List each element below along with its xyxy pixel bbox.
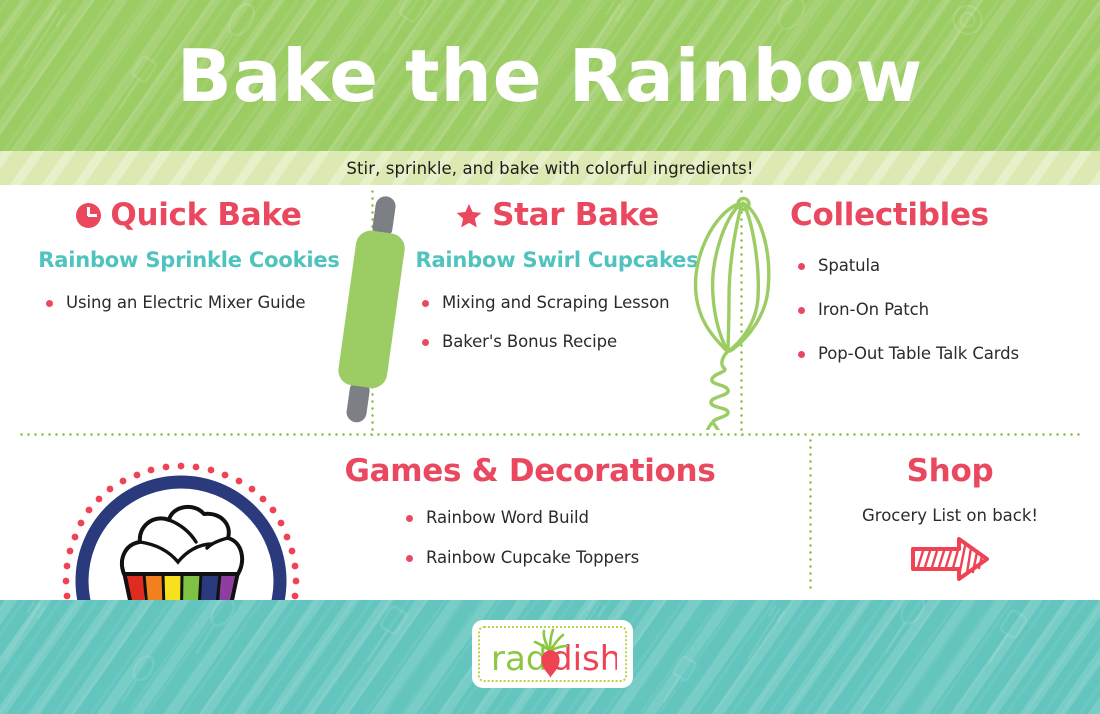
section-quick-bake: Quick Bake Rainbow Sprinkle Cookies Usin…	[24, 196, 354, 330]
subtitle-band: Stir, sprinkle, and bake with colorful i…	[0, 151, 1100, 185]
games-list: Rainbow Word Build Rainbow Cupcake Toppe…	[400, 506, 730, 570]
header-band: Bake the Rainbow	[0, 0, 1100, 151]
brand-text-dish: dish	[551, 639, 617, 679]
quick-bake-recipe: Rainbow Sprinkle Cookies	[24, 246, 354, 275]
collectibles-heading-label: Collectibles	[790, 196, 989, 234]
quick-bake-heading-label: Quick Bake	[110, 196, 301, 234]
section-star-bake: Star Bake Rainbow Swirl Cupcakes Mixing …	[392, 196, 722, 369]
poster-page: Bake the Rainbow Stir, sprinkle, and bak…	[0, 0, 1100, 714]
brand-logo: rad dish	[474, 622, 631, 686]
list-item: Rainbow Word Build	[400, 506, 730, 530]
star-bake-list: Mixing and Scraping Lesson Baker's Bonus…	[416, 291, 722, 354]
section-shop: Shop Grocery List on back!	[820, 452, 1080, 588]
star-bake-heading-label: Star Bake	[492, 196, 659, 234]
quick-bake-heading: Quick Bake	[24, 196, 354, 234]
collectibles-list: Spatula Iron-On Patch Pop-Out Table Talk…	[792, 254, 1090, 366]
page-title: Bake the Rainbow	[0, 30, 1100, 122]
divider-vertical-shop	[809, 437, 812, 589]
section-games-decorations: Games & Decorations Rainbow Word Build R…	[330, 452, 730, 586]
games-heading: Games & Decorations	[330, 452, 730, 490]
list-item: Using an Electric Mixer Guide	[40, 291, 354, 315]
divider-horizontal	[18, 433, 1082, 436]
shop-heading-label: Shop	[907, 452, 994, 490]
radish-wordmark-icon: rad dish	[489, 628, 617, 680]
list-item: Iron-On Patch	[792, 298, 1090, 322]
section-collectibles: Collectibles Spatula Iron-On Patch Pop-O…	[790, 196, 1090, 386]
shop-note: Grocery List on back!	[820, 506, 1080, 525]
star-icon	[455, 202, 483, 230]
games-heading-label: Games & Decorations	[345, 452, 716, 490]
list-item: Rainbow Cupcake Toppers	[400, 546, 730, 570]
whisk-icon	[680, 190, 790, 430]
subtitle-text: Stir, sprinkle, and bake with colorful i…	[346, 159, 753, 178]
collectibles-heading: Collectibles	[790, 196, 1090, 234]
list-item: Spatula	[792, 254, 1090, 278]
list-item: Pop-Out Table Talk Cards	[792, 342, 1090, 366]
quick-bake-list: Using an Electric Mixer Guide	[40, 291, 354, 315]
clock-icon	[76, 203, 101, 228]
arrow-right-icon	[907, 535, 993, 583]
list-item: Baker's Bonus Recipe	[416, 330, 722, 354]
star-bake-heading: Star Bake	[392, 196, 722, 234]
list-item: Mixing and Scraping Lesson	[416, 291, 722, 315]
shop-heading: Shop	[820, 452, 1080, 490]
star-bake-recipe: Rainbow Swirl Cupcakes	[392, 246, 722, 275]
